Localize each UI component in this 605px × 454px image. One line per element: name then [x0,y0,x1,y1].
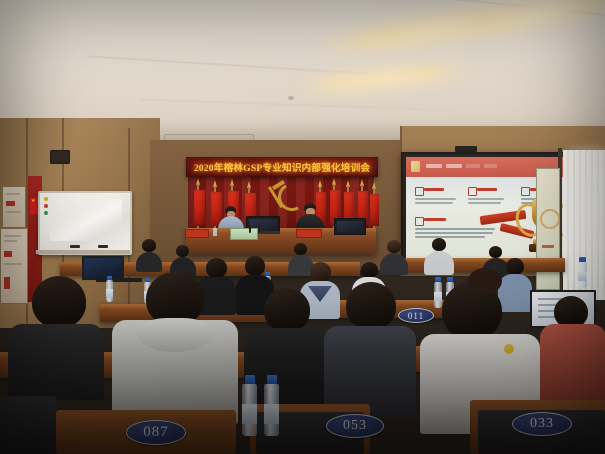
seat-badge-033: 033 [512,412,572,436]
jacket-hood [138,318,212,352]
attendee [324,282,416,412]
chair-back [0,396,56,454]
slide-bullet-block [468,187,510,211]
wall-speaker [50,150,70,164]
wall-poster [2,186,26,228]
name-card [296,229,322,238]
water-glass [213,228,217,236]
led-banner: 2020年榕林GSP专业知识内部强化培训会 [186,157,378,177]
whiteboard-marker [70,245,80,248]
seat-number: 033 [530,416,554,432]
water-bottle [264,384,279,436]
whiteboard-marker [98,245,108,248]
badge-pin [504,344,514,354]
slide-nav-chip [426,164,442,168]
attendee [8,276,104,394]
laptop [334,218,366,235]
whiteboard-magnet [44,211,48,215]
green-box [230,228,258,240]
seat-number: 053 [343,418,367,434]
attendee [170,245,196,273]
slide-nav-chip [466,164,480,168]
conference-room-photo: ★ [0,0,605,454]
whiteboard [38,191,132,255]
slide-bullet-block [415,187,457,211]
whiteboard-magnet [44,204,48,208]
attendee [112,272,238,420]
seat-number: 087 [143,424,169,441]
attendee [540,296,605,416]
microphone [258,226,260,233]
slide-nav-chip [446,164,462,168]
water-bottle [242,384,257,436]
water-bottle [578,262,587,288]
microphone [249,225,251,233]
ceiling-light-strip [299,59,470,97]
seat-badge-087: 087 [126,420,186,445]
slide-logo [411,161,420,172]
ceiling-fixture [288,96,294,100]
attendee [136,239,162,269]
hair-bun [468,268,502,294]
banner-text: 2020年榕林GSP专业知识内部强化培训会 [194,160,370,174]
attendee [424,238,454,272]
whiteboard-tray [36,250,130,254]
name-card [185,229,209,238]
seat-badge-053: 053 [326,414,384,438]
slide-nav-chip [484,164,497,168]
whiteboard-magnet [44,197,48,201]
